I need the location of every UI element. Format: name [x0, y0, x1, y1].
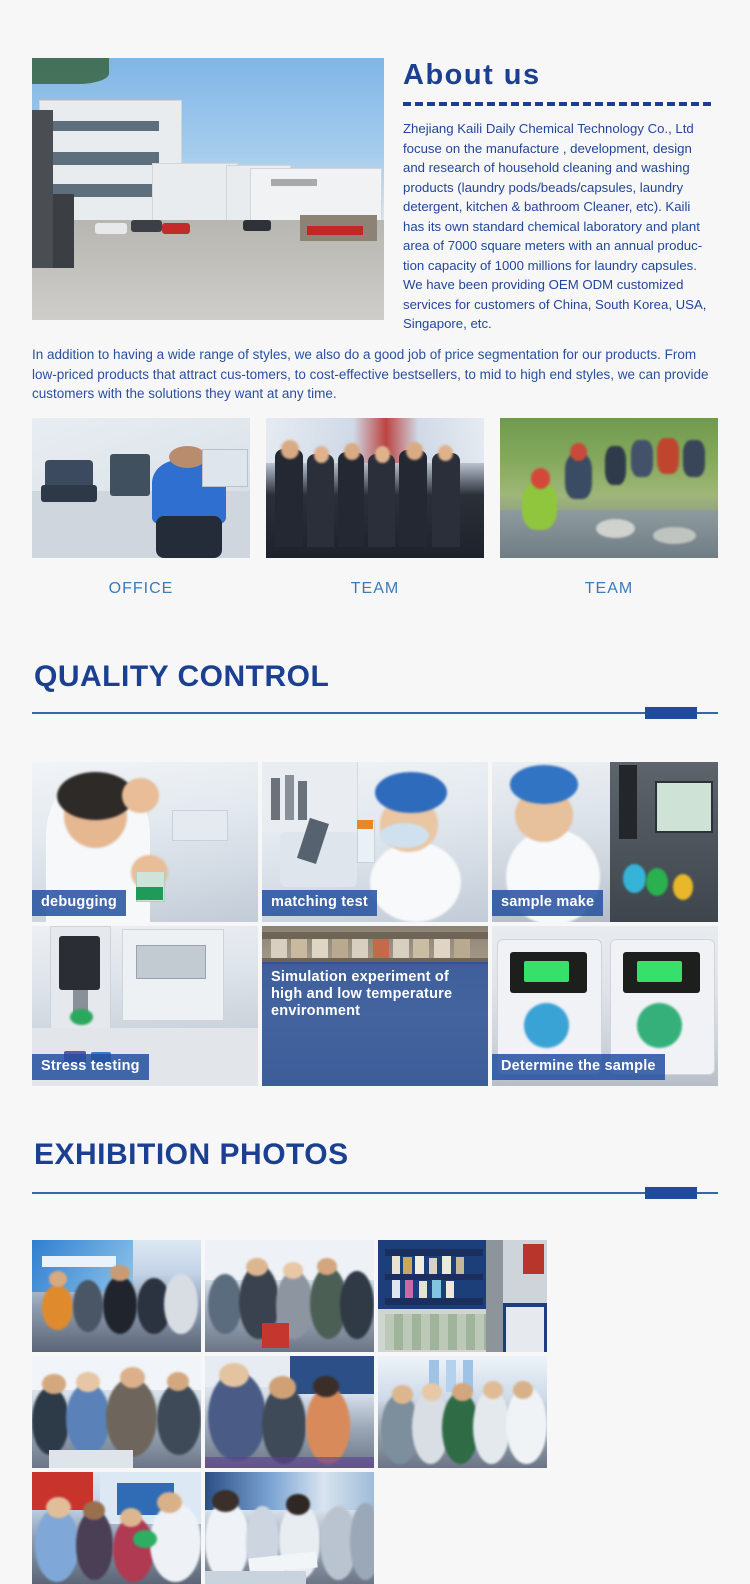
qc-photo-debugging: debugging: [32, 762, 258, 922]
qc-caption-sample-make: sample make: [492, 890, 603, 916]
trio-label-row: OFFICE TEAM TEAM: [32, 580, 718, 598]
exhibition-photo-2: [205, 1240, 374, 1352]
exhibition-grid: [32, 1240, 718, 1584]
trio-photo-team-outdoor: [500, 418, 718, 558]
dashed-divider: [403, 102, 711, 106]
exhibition-photo-5: [205, 1356, 374, 1468]
qc-caption-stress-testing: Stress testing: [32, 1054, 149, 1080]
divider-line: [32, 712, 718, 714]
divider-line: [32, 1192, 718, 1194]
quality-control-heading: QUALITY CONTROL: [34, 660, 329, 694]
intro-paragraph: In addition to having a wide range of st…: [32, 345, 722, 404]
divider-accent-block: [645, 707, 697, 719]
qc-photo-temperature-simulation: Simulation experiment of high and low te…: [262, 926, 488, 1086]
exhibition-photo-1: [32, 1240, 201, 1352]
trio-label-team-1: TEAM: [266, 580, 484, 598]
about-title: About us: [403, 58, 715, 92]
qc-photo-matching-test: matching test: [262, 762, 488, 922]
exhibition-photo-3: [378, 1240, 547, 1352]
qc-caption-matching-test: matching test: [262, 890, 377, 916]
divider-accent-block: [645, 1187, 697, 1199]
trio-photo-team-booth: [266, 418, 484, 558]
qc-caption-temperature-simulation: Simulation experiment of high and low te…: [262, 962, 488, 1086]
about-factory-photo: [32, 58, 384, 320]
qc-caption-determine-sample: Determine the sample: [492, 1054, 665, 1080]
about-body-text: Zhejiang Kaili Daily Chemical Technology…: [403, 119, 715, 334]
exhibition-photo-8: [205, 1472, 374, 1584]
qc-photo-stress-testing: Stress testing: [32, 926, 258, 1086]
about-text-block: About us Zhejiang Kaili Daily Chemical T…: [403, 58, 715, 347]
trio-photo-row: [32, 418, 718, 558]
trio-photo-office: [32, 418, 250, 558]
about-section: About us Zhejiang Kaili Daily Chemical T…: [0, 0, 750, 330]
quality-control-divider: [32, 706, 718, 720]
qc-photo-determine-sample: Determine the sample: [492, 926, 718, 1086]
trio-label-office: OFFICE: [32, 580, 250, 598]
exhibition-photo-7: [32, 1472, 201, 1584]
qc-photo-sample-make: sample make: [492, 762, 718, 922]
catalog-page: About us Zhejiang Kaili Daily Chemical T…: [0, 0, 750, 1512]
exhibition-heading: EXHIBITION PHOTOS: [34, 1138, 349, 1172]
exhibition-divider: [32, 1186, 718, 1200]
trio-label-team-2: TEAM: [500, 580, 718, 598]
exhibition-photo-6: [378, 1356, 547, 1468]
quality-control-grid: debugging matching test: [32, 762, 718, 1086]
qc-caption-debugging: debugging: [32, 890, 126, 916]
exhibition-photo-4: [32, 1356, 201, 1468]
